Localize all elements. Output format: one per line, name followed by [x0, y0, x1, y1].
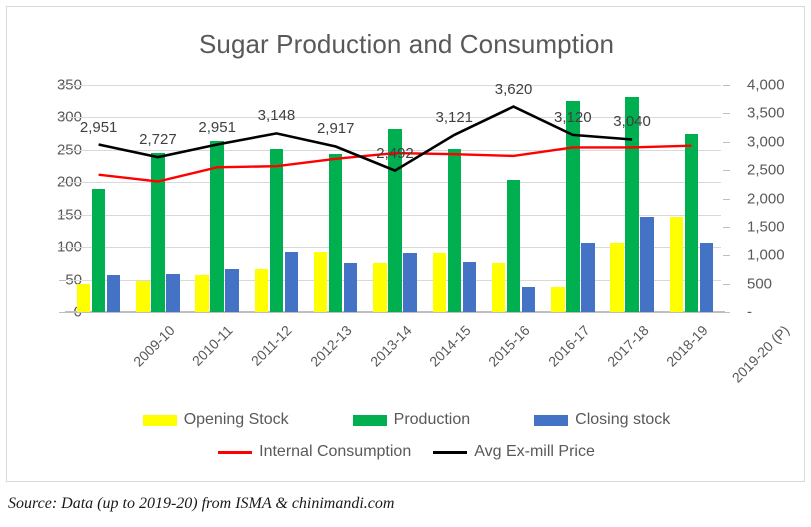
data-label: 2,951	[198, 119, 236, 136]
legend-color-swatch	[534, 415, 568, 426]
chart-title: Sugar Production and Consumption	[7, 29, 806, 60]
right-axis-tick	[723, 142, 730, 143]
data-label: 3,620	[495, 81, 533, 98]
category-axis-label: 2009-10	[130, 322, 178, 370]
right-axis-tick	[723, 85, 730, 86]
right-axis-tick-label: -	[747, 304, 799, 321]
left-axis-tick	[59, 215, 66, 216]
legend-color-swatch	[353, 415, 387, 426]
left-axis-tick	[59, 247, 66, 248]
left-axis-tick	[59, 150, 66, 151]
category-axis-label: 2019-20 (P)	[729, 322, 793, 386]
data-label: 2,951	[80, 119, 118, 136]
data-label: 3,120	[554, 109, 592, 126]
data-label: 2,917	[317, 120, 355, 137]
right-axis-tick-label: 2,500	[747, 162, 799, 179]
legend-item: Closing stock	[534, 411, 670, 429]
category-axis-label: 2017-18	[604, 322, 652, 370]
category-axis-label: 2012-13	[308, 322, 356, 370]
category-axis-label: 2013-14	[367, 322, 415, 370]
category-axis-label: 2016-17	[545, 322, 593, 370]
legend-item: Internal Consumption	[218, 443, 411, 461]
right-axis-tick-label: 3,000	[747, 133, 799, 150]
legend-item: Opening Stock	[143, 411, 289, 429]
plot-area: 2,9512,7272,9513,1482,9172,4923,1213,620…	[69, 85, 721, 312]
source-note: Source: Data (up to 2019-20) from ISMA &…	[8, 495, 394, 513]
left-axis-tick	[59, 117, 66, 118]
right-axis-tick-label: 1,000	[747, 247, 799, 264]
legend-item: Avg Ex-mill Price	[433, 443, 595, 461]
right-axis-tick-label: 1,500	[747, 218, 799, 235]
data-label: 3,148	[258, 107, 296, 124]
category-axis-label: 2015-16	[485, 322, 533, 370]
legend-line-swatch	[433, 451, 467, 454]
right-axis-tick-label: 2,000	[747, 190, 799, 207]
chart-screenshot: Sugar Production and Consumption 0501001…	[0, 0, 811, 527]
legend-label: Production	[394, 411, 471, 429]
legend-row-secondary: Internal ConsumptionAvg Ex-mill Price	[7, 443, 806, 461]
legend-label: Internal Consumption	[259, 443, 411, 461]
right-axis-tick	[723, 113, 730, 114]
right-axis-tick	[723, 199, 730, 200]
legend-line-swatch	[218, 451, 252, 454]
right-axis-tick	[723, 227, 730, 228]
right-axis-tick-label: 4,000	[747, 77, 799, 94]
right-axis-tick-label: 3,500	[747, 105, 799, 122]
data-label: 3,121	[435, 109, 473, 126]
left-axis-tick	[59, 182, 66, 183]
right-axis-tick	[723, 255, 730, 256]
left-axis-tick	[59, 280, 66, 281]
legend-label: Opening Stock	[184, 411, 289, 429]
chart-card: Sugar Production and Consumption 0501001…	[6, 6, 805, 482]
legend-label: Closing stock	[575, 411, 670, 429]
data-label: 2,492	[376, 145, 414, 162]
category-axis-label: 2018-19	[663, 322, 711, 370]
legend-item: Production	[353, 411, 471, 429]
legend-label: Avg Ex-mill Price	[474, 443, 595, 461]
legend-color-swatch	[143, 415, 177, 426]
right-axis-tick	[723, 284, 730, 285]
line-avg-ex-mill-price	[99, 107, 633, 171]
data-label: 3,040	[613, 113, 651, 130]
right-axis-tick	[723, 170, 730, 171]
right-axis-tick-label: 500	[747, 275, 799, 292]
category-axis-label: 2014-15	[426, 322, 474, 370]
left-axis-tick	[59, 85, 66, 86]
chart-legend: Opening StockProductionClosing stock Int…	[7, 411, 806, 461]
category-axis-label: 2010-11	[189, 322, 236, 369]
category-axis-label: 2011-12	[248, 322, 295, 369]
data-label: 2,727	[139, 131, 177, 148]
legend-row-primary: Opening StockProductionClosing stock	[7, 411, 806, 429]
